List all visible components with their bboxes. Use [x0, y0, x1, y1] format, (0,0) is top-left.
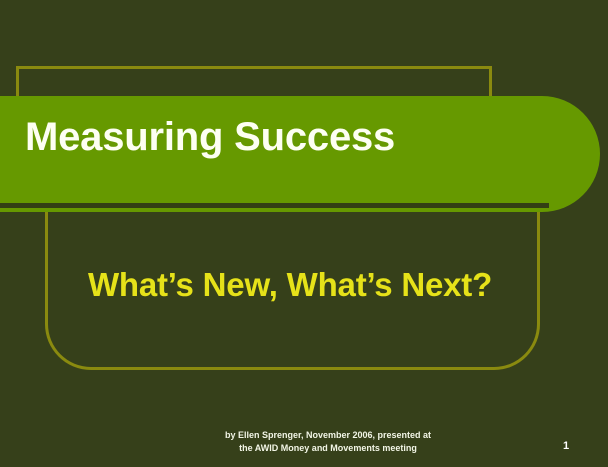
page-number: 1	[563, 441, 569, 452]
banner-accent-stripe	[0, 203, 549, 208]
slide-title: Measuring Success	[25, 117, 395, 157]
title-banner: Measuring Success	[0, 96, 600, 212]
footer-line-1: by Ellen Sprenger, November 2006, presen…	[0, 429, 608, 442]
slide-subtitle: What’s New, What’s Next?	[0, 268, 580, 301]
footer-line-2: the AWID Money and Movements meeting	[0, 442, 608, 455]
presentation-slide: Measuring Success What’s New, What’s Nex…	[0, 0, 608, 467]
slide-footer: by Ellen Sprenger, November 2006, presen…	[0, 429, 608, 455]
